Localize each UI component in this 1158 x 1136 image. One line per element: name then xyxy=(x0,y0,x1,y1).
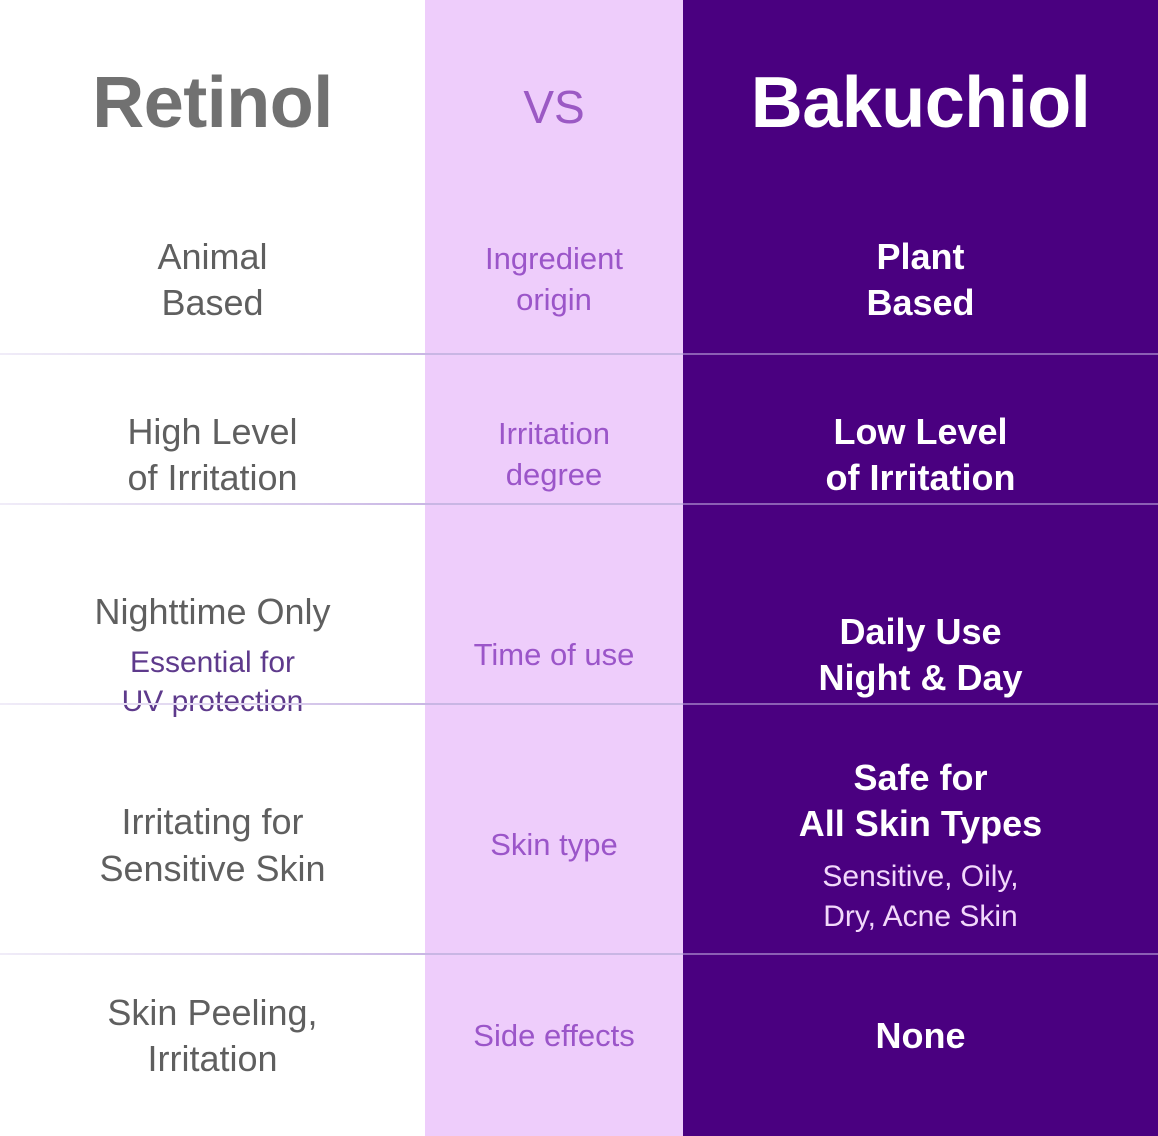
bakuchiol-value: Safe for All Skin Types xyxy=(799,755,1042,847)
criteria-label: Irritation degree xyxy=(498,414,610,496)
table-row-cell-left: Animal Based xyxy=(0,205,425,355)
table-row-cell-right: Daily Use Night & Day xyxy=(683,555,1158,755)
table-row-cell-left: Nighttime Only Essential for UV protecti… xyxy=(0,555,425,755)
retinol-subtext: Essential for UV protection xyxy=(122,643,304,721)
page-title-bakuchiol: Bakuchiol xyxy=(751,67,1091,139)
bakuchiol-value: None xyxy=(876,1013,966,1059)
table-row-cell-right: None xyxy=(683,936,1158,1136)
criteria-label: Time of use xyxy=(474,635,635,676)
table-row-cell-left: Skin Peeling, Irritation xyxy=(0,936,425,1136)
header-cell-retinol: Retinol xyxy=(0,0,425,205)
header-cell-bakuchiol: Bakuchiol xyxy=(683,0,1158,205)
table-row-cell-label: Time of use xyxy=(425,555,683,755)
vs-label: VS xyxy=(523,76,584,130)
criteria-label: Side effects xyxy=(473,1016,634,1057)
table-row-cell-right: Safe for All Skin Types Sensitive, Oily,… xyxy=(683,755,1158,936)
retinol-value: Skin Peeling, Irritation xyxy=(107,990,317,1082)
bakuchiol-value: Daily Use Night & Day xyxy=(818,609,1022,701)
table-row-cell-label: Side effects xyxy=(425,936,683,1136)
table-row-cell-left: High Level of Irritation xyxy=(0,355,425,555)
header-cell-vs: VS xyxy=(425,0,683,205)
retinol-value: Irritating for Sensitive Skin xyxy=(99,799,325,891)
criteria-label: Ingredient origin xyxy=(485,239,623,321)
table-row-cell-label: Ingredient origin xyxy=(425,205,683,355)
table-row-cell-label: Skin type xyxy=(425,755,683,936)
bakuchiol-subtext: Sensitive, Oily, Dry, Acne Skin xyxy=(822,857,1018,936)
retinol-value: Nighttime Only xyxy=(94,589,330,635)
bakuchiol-value: Plant Based xyxy=(866,234,974,326)
table-row-cell-right: Low Level of Irritation xyxy=(683,355,1158,555)
table-row-cell-right: Plant Based xyxy=(683,205,1158,355)
table-row-cell-label: Irritation degree xyxy=(425,355,683,555)
bakuchiol-value: Low Level of Irritation xyxy=(826,409,1016,501)
page-title-retinol: Retinol xyxy=(92,67,332,139)
table-row-cell-left: Irritating for Sensitive Skin xyxy=(0,755,425,936)
criteria-label: Skin type xyxy=(490,825,618,866)
retinol-value: Animal Based xyxy=(157,234,267,326)
retinol-value: High Level of Irritation xyxy=(127,409,297,501)
comparison-table: Retinol VS Bakuchiol Animal Based Ingred… xyxy=(0,0,1158,1136)
